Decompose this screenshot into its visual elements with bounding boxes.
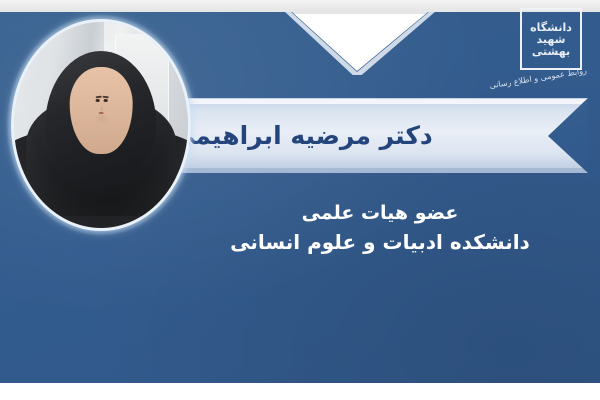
logo-line-1: دانشگاه xyxy=(530,22,572,33)
logo-line-2: شهید xyxy=(537,34,566,45)
photo-soft-light xyxy=(14,22,188,228)
university-logo: دانشگاه شهید بهشتی روابط عمومی و اطلاع ر… xyxy=(480,4,588,100)
poster-canvas: دانشگاه شهید بهشتی روابط عمومی و اطلاع ر… xyxy=(0,0,600,400)
faculty-line: دانشکده ادبیات و علوم انسانی xyxy=(200,228,560,257)
subtitle-block: عضو هیات علمی دانشکده ادبیات و علوم انسا… xyxy=(200,200,560,257)
person-name: دکتر مرضیه ابراهیمی xyxy=(170,100,565,171)
logo-line-3: بهشتی xyxy=(532,46,570,57)
logo-frame-icon: دانشگاه شهید بهشتی xyxy=(520,8,582,70)
portrait-photo xyxy=(14,22,188,228)
bottom-white-band xyxy=(0,383,600,400)
role-line: عضو هیات علمی xyxy=(200,200,560,228)
logo-wordmark: دانشگاه شهید بهشتی xyxy=(522,10,580,68)
